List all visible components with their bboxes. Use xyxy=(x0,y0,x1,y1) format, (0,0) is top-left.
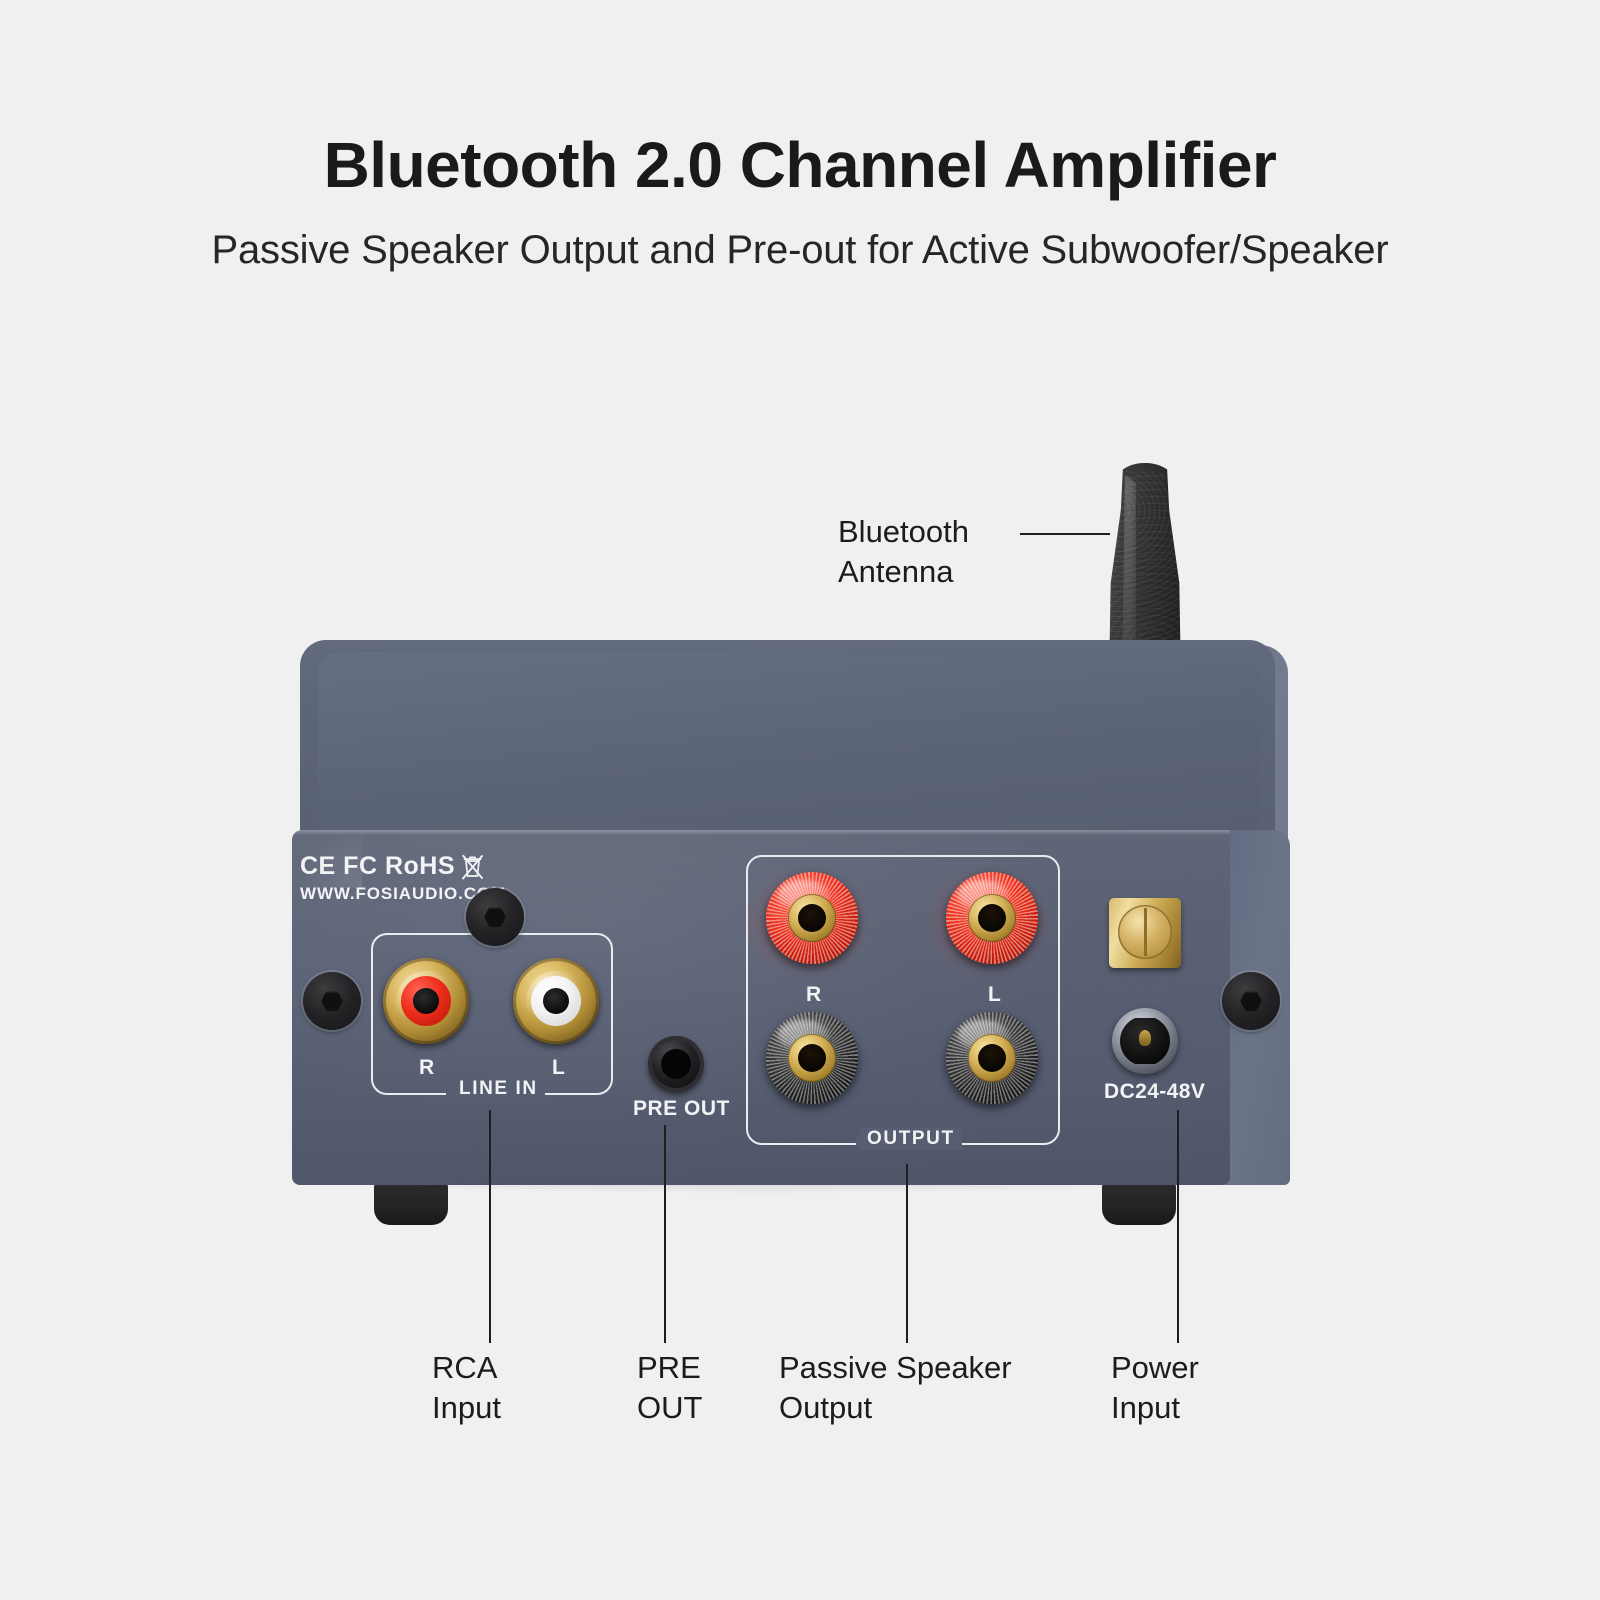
speaker-post-right-positive[interactable] xyxy=(766,872,858,964)
leader-pre-out xyxy=(664,1125,666,1343)
rca-jack-left[interactable] xyxy=(513,958,599,1044)
rca-left-center-hole xyxy=(543,988,569,1014)
panel-top-highlight xyxy=(292,830,1230,835)
speaker-post-left-negative[interactable] xyxy=(946,1012,1038,1104)
speaker-post-left-positive[interactable] xyxy=(946,872,1038,964)
output-group-label: OUTPUT xyxy=(860,1128,962,1150)
post-banana-hole xyxy=(798,1044,826,1072)
callout-pre-out: PRE OUT xyxy=(637,1348,702,1427)
callout-passive-speaker-output: Passive Speaker Output xyxy=(779,1348,1012,1427)
post-banana-hole xyxy=(978,1044,1006,1072)
output-left-label: L xyxy=(988,983,1001,1007)
line-in-group-label: LINE IN xyxy=(452,1078,545,1100)
hex-socket-icon xyxy=(484,906,506,928)
leader-rca-input xyxy=(489,1110,491,1343)
sma-slot xyxy=(1144,908,1147,956)
power-rating-label: DC24-48V xyxy=(1104,1080,1205,1104)
dc-center-pin xyxy=(1139,1030,1151,1046)
sma-antenna-connector[interactable] xyxy=(1109,898,1181,968)
post-banana-hole xyxy=(798,904,826,932)
callout-power-input: Power Input xyxy=(1111,1348,1199,1427)
hex-socket-icon xyxy=(321,990,343,1012)
leader-bluetooth-antenna xyxy=(1020,533,1110,535)
weee-bin-icon xyxy=(462,854,483,880)
chassis-lid-surface xyxy=(318,652,1260,848)
panel-screw-right xyxy=(1222,972,1280,1030)
panel-screw-left xyxy=(303,972,361,1030)
post-banana-hole xyxy=(978,904,1006,932)
panel-screw-top xyxy=(466,888,524,946)
pre-out-panel-label: PRE OUT xyxy=(633,1097,730,1121)
rca-jack-right[interactable] xyxy=(383,958,469,1044)
output-right-label: R xyxy=(806,983,822,1007)
speaker-post-right-negative[interactable] xyxy=(766,1012,858,1104)
hex-socket-icon xyxy=(1240,990,1262,1012)
callout-rca-input: RCA Input xyxy=(432,1348,501,1427)
certification-text: CE FC RoHS xyxy=(300,852,455,881)
leader-passive-speaker-output xyxy=(906,1164,908,1343)
rca-left-label: L xyxy=(552,1056,565,1080)
leader-power-input xyxy=(1177,1110,1179,1343)
callout-bluetooth-antenna: Bluetooth Antenna xyxy=(838,512,969,591)
pre-out-jack[interactable] xyxy=(648,1036,704,1092)
rca-right-label: R xyxy=(419,1056,435,1080)
rca-right-center-hole xyxy=(413,988,439,1014)
dc-power-jack[interactable] xyxy=(1112,1008,1178,1074)
certification-marks: CE FC RoHS xyxy=(300,852,483,881)
